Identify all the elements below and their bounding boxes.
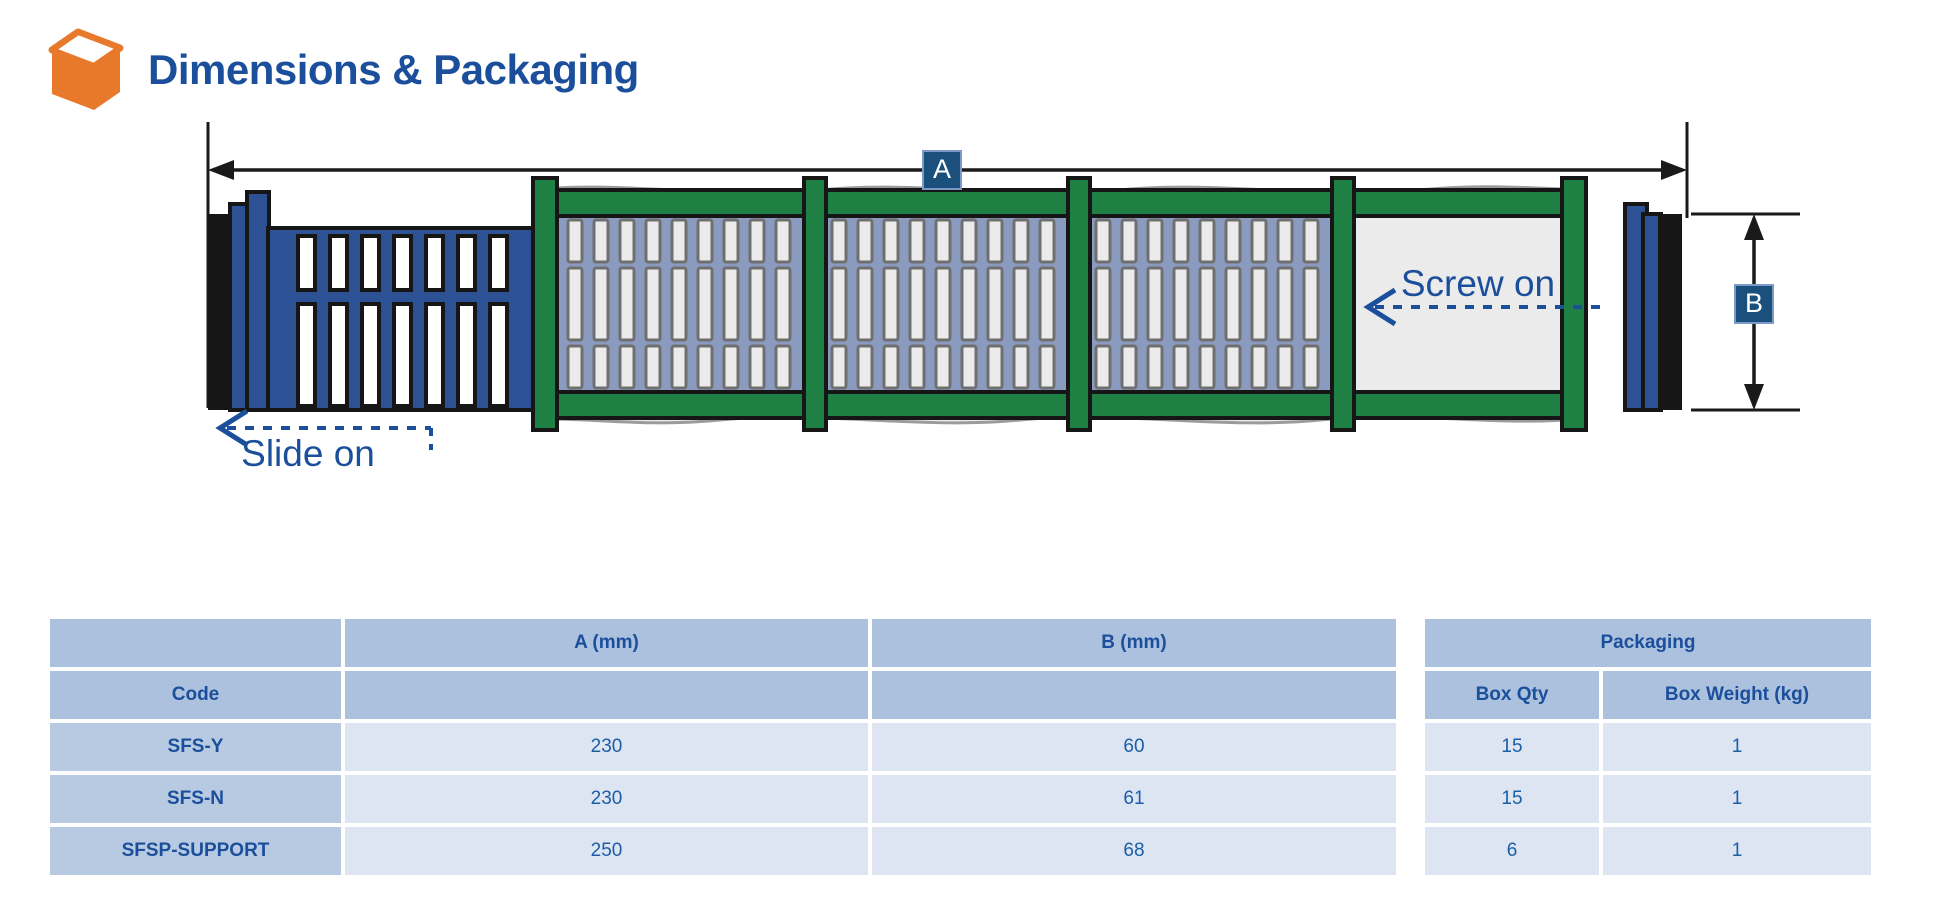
page-title: Dimensions & Packaging [148,46,639,94]
box-icon [48,28,124,112]
table-row: 15 1 [1423,721,1873,773]
page-root: Dimensions & Packaging [0,0,1946,919]
cell-code: SFS-Y [48,721,343,773]
table-header-row-sub: Code [48,669,1398,721]
cell-code: SFS-N [48,773,343,825]
header-blank-corner [48,617,343,669]
cell-box-qty: 15 [1423,773,1601,825]
specs-tables: A (mm) B (mm) Code SFS-Y 230 60 SFS-N 23… [48,617,1898,877]
table-row: 15 1 [1423,773,1873,825]
cell-box-weight: 1 [1601,721,1873,773]
header-packaging: Packaging [1423,617,1873,669]
slide-on-label: Slide on [241,433,375,474]
header-a-mm: A (mm) [343,617,870,669]
cell-b: 60 [870,721,1398,773]
packaging-table: Packaging Box Qty Box Weight (kg) 15 1 1… [1423,617,1873,877]
cell-box-qty: 15 [1423,721,1601,773]
dimensions-table: A (mm) B (mm) Code SFS-Y 230 60 SFS-N 23… [48,617,1398,877]
cell-a: 230 [343,721,870,773]
cell-b: 68 [870,825,1398,877]
header-sub-blank-a [343,669,870,721]
packaging-header-row: Packaging [1423,617,1873,669]
header-box-weight: Box Weight (kg) [1601,669,1873,721]
product-diagram: A B Screw on Slide on [0,118,1946,478]
grated-panel-2 [820,214,1070,394]
cell-box-weight: 1 [1601,773,1873,825]
cell-box-qty: 6 [1423,825,1601,877]
table-row: SFSP-SUPPORT 250 68 [48,825,1398,877]
table-row: SFS-Y 230 60 [48,721,1398,773]
header-code: Code [48,669,343,721]
badge-a-label: A [933,154,951,184]
cell-a: 250 [343,825,870,877]
header-sub-blank-b [870,669,1398,721]
packaging-subheader-row: Box Qty Box Weight (kg) [1423,669,1873,721]
left-blue-assembly [208,192,533,410]
empty-panel-4 [1348,214,1570,394]
dimension-badge-b: B [1735,285,1773,323]
badge-b-label: B [1745,288,1763,318]
table-header-row-top: A (mm) B (mm) [48,617,1398,669]
grated-panel-1 [556,214,806,394]
table-row: 6 1 [1423,825,1873,877]
right-end-cap [1625,204,1682,410]
table-row: SFS-N 230 61 [48,773,1398,825]
grated-panel-3 [1084,214,1334,394]
cell-box-weight: 1 [1601,825,1873,877]
screw-on-label: Screw on [1401,263,1555,304]
cell-code: SFSP-SUPPORT [48,825,343,877]
header-box-qty: Box Qty [1423,669,1601,721]
header-b-mm: B (mm) [870,617,1398,669]
slide-on-annotation: Slide on [220,411,431,474]
cell-a: 230 [343,773,870,825]
green-framed-body [533,178,1586,430]
left-grating-slots-upper [298,236,507,290]
page-header: Dimensions & Packaging [48,28,639,112]
cell-b: 61 [870,773,1398,825]
left-grating-slots-lower [298,304,507,406]
dimension-badge-a: A [923,151,961,189]
